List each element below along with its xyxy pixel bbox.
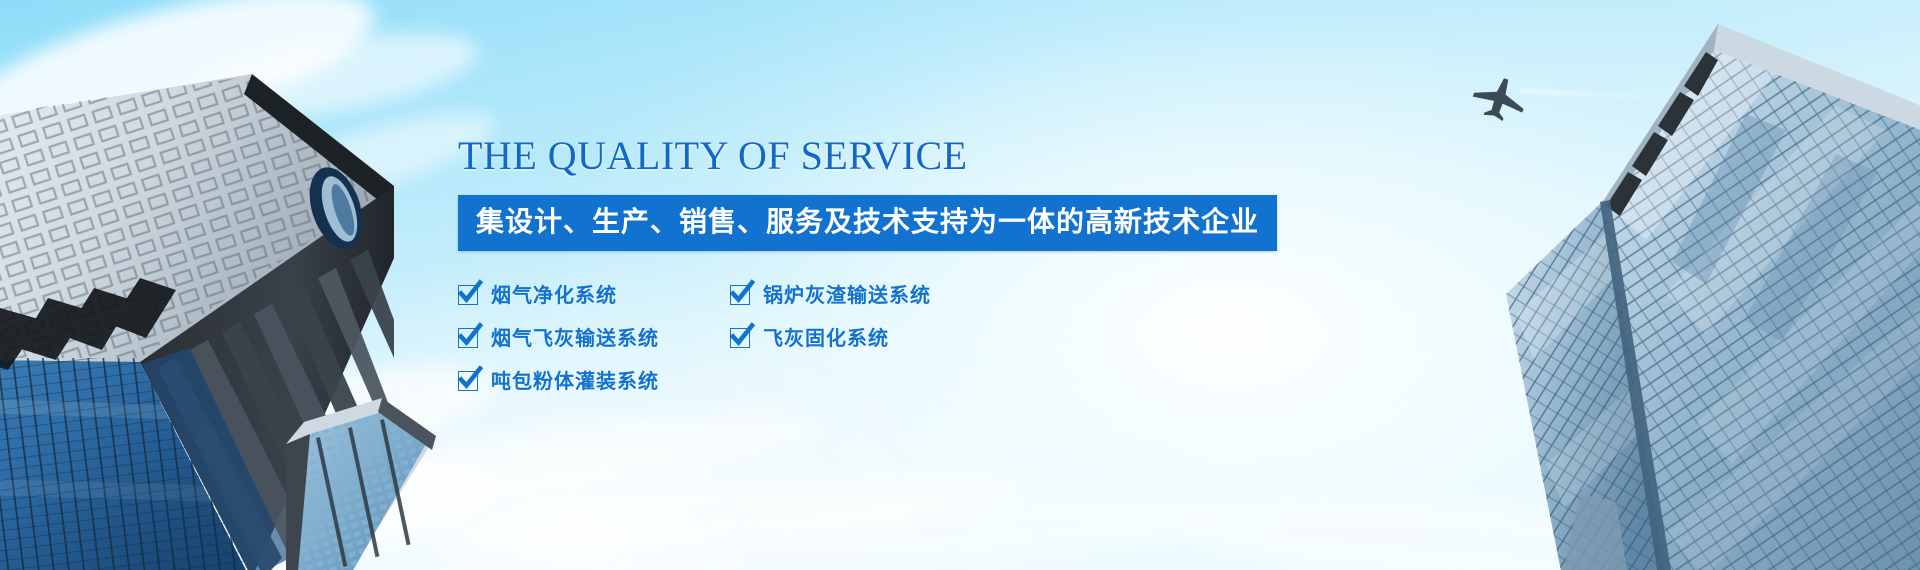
banner-content: THE QUALITY OF SERVICE 集设计、生产、销售、服务及技术支持… — [458, 134, 1418, 391]
tagline-ribbon: 集设计、生产、销售、服务及技术支持为一体的高新技术企业 — [458, 195, 1277, 251]
checkbox-checked-icon — [458, 285, 478, 305]
feature-label: 吨包粉体灌装系统 — [491, 371, 659, 391]
feature-label: 锅炉灰渣输送系统 — [763, 285, 931, 305]
hero-banner: THE QUALITY OF SERVICE 集设计、生产、销售、服务及技术支持… — [0, 0, 1920, 570]
skyscraper-small — [286, 392, 496, 570]
feature-item-1[interactable]: 锅炉灰渣输送系统 — [730, 285, 1418, 305]
checkbox-checked-icon — [458, 328, 478, 348]
feature-label: 烟气净化系统 — [491, 285, 617, 305]
skyscraper-right — [1366, 0, 1920, 570]
feature-list: 烟气净化系统 锅炉灰渣输送系统 烟气飞灰输送系统 — [458, 285, 1418, 391]
feature-item-2[interactable]: 烟气飞灰输送系统 — [458, 328, 730, 348]
feature-item-4[interactable]: 吨包粉体灌装系统 — [458, 371, 730, 391]
checkbox-checked-icon — [458, 371, 478, 391]
feature-item-3[interactable]: 飞灰固化系统 — [730, 328, 1418, 348]
checkbox-checked-icon — [730, 328, 750, 348]
feature-label: 烟气飞灰输送系统 — [491, 328, 659, 348]
feature-item-0[interactable]: 烟气净化系统 — [458, 285, 730, 305]
feature-label: 飞灰固化系统 — [763, 328, 889, 348]
page-title: THE QUALITY OF SERVICE — [458, 134, 1418, 179]
checkbox-checked-icon — [730, 285, 750, 305]
